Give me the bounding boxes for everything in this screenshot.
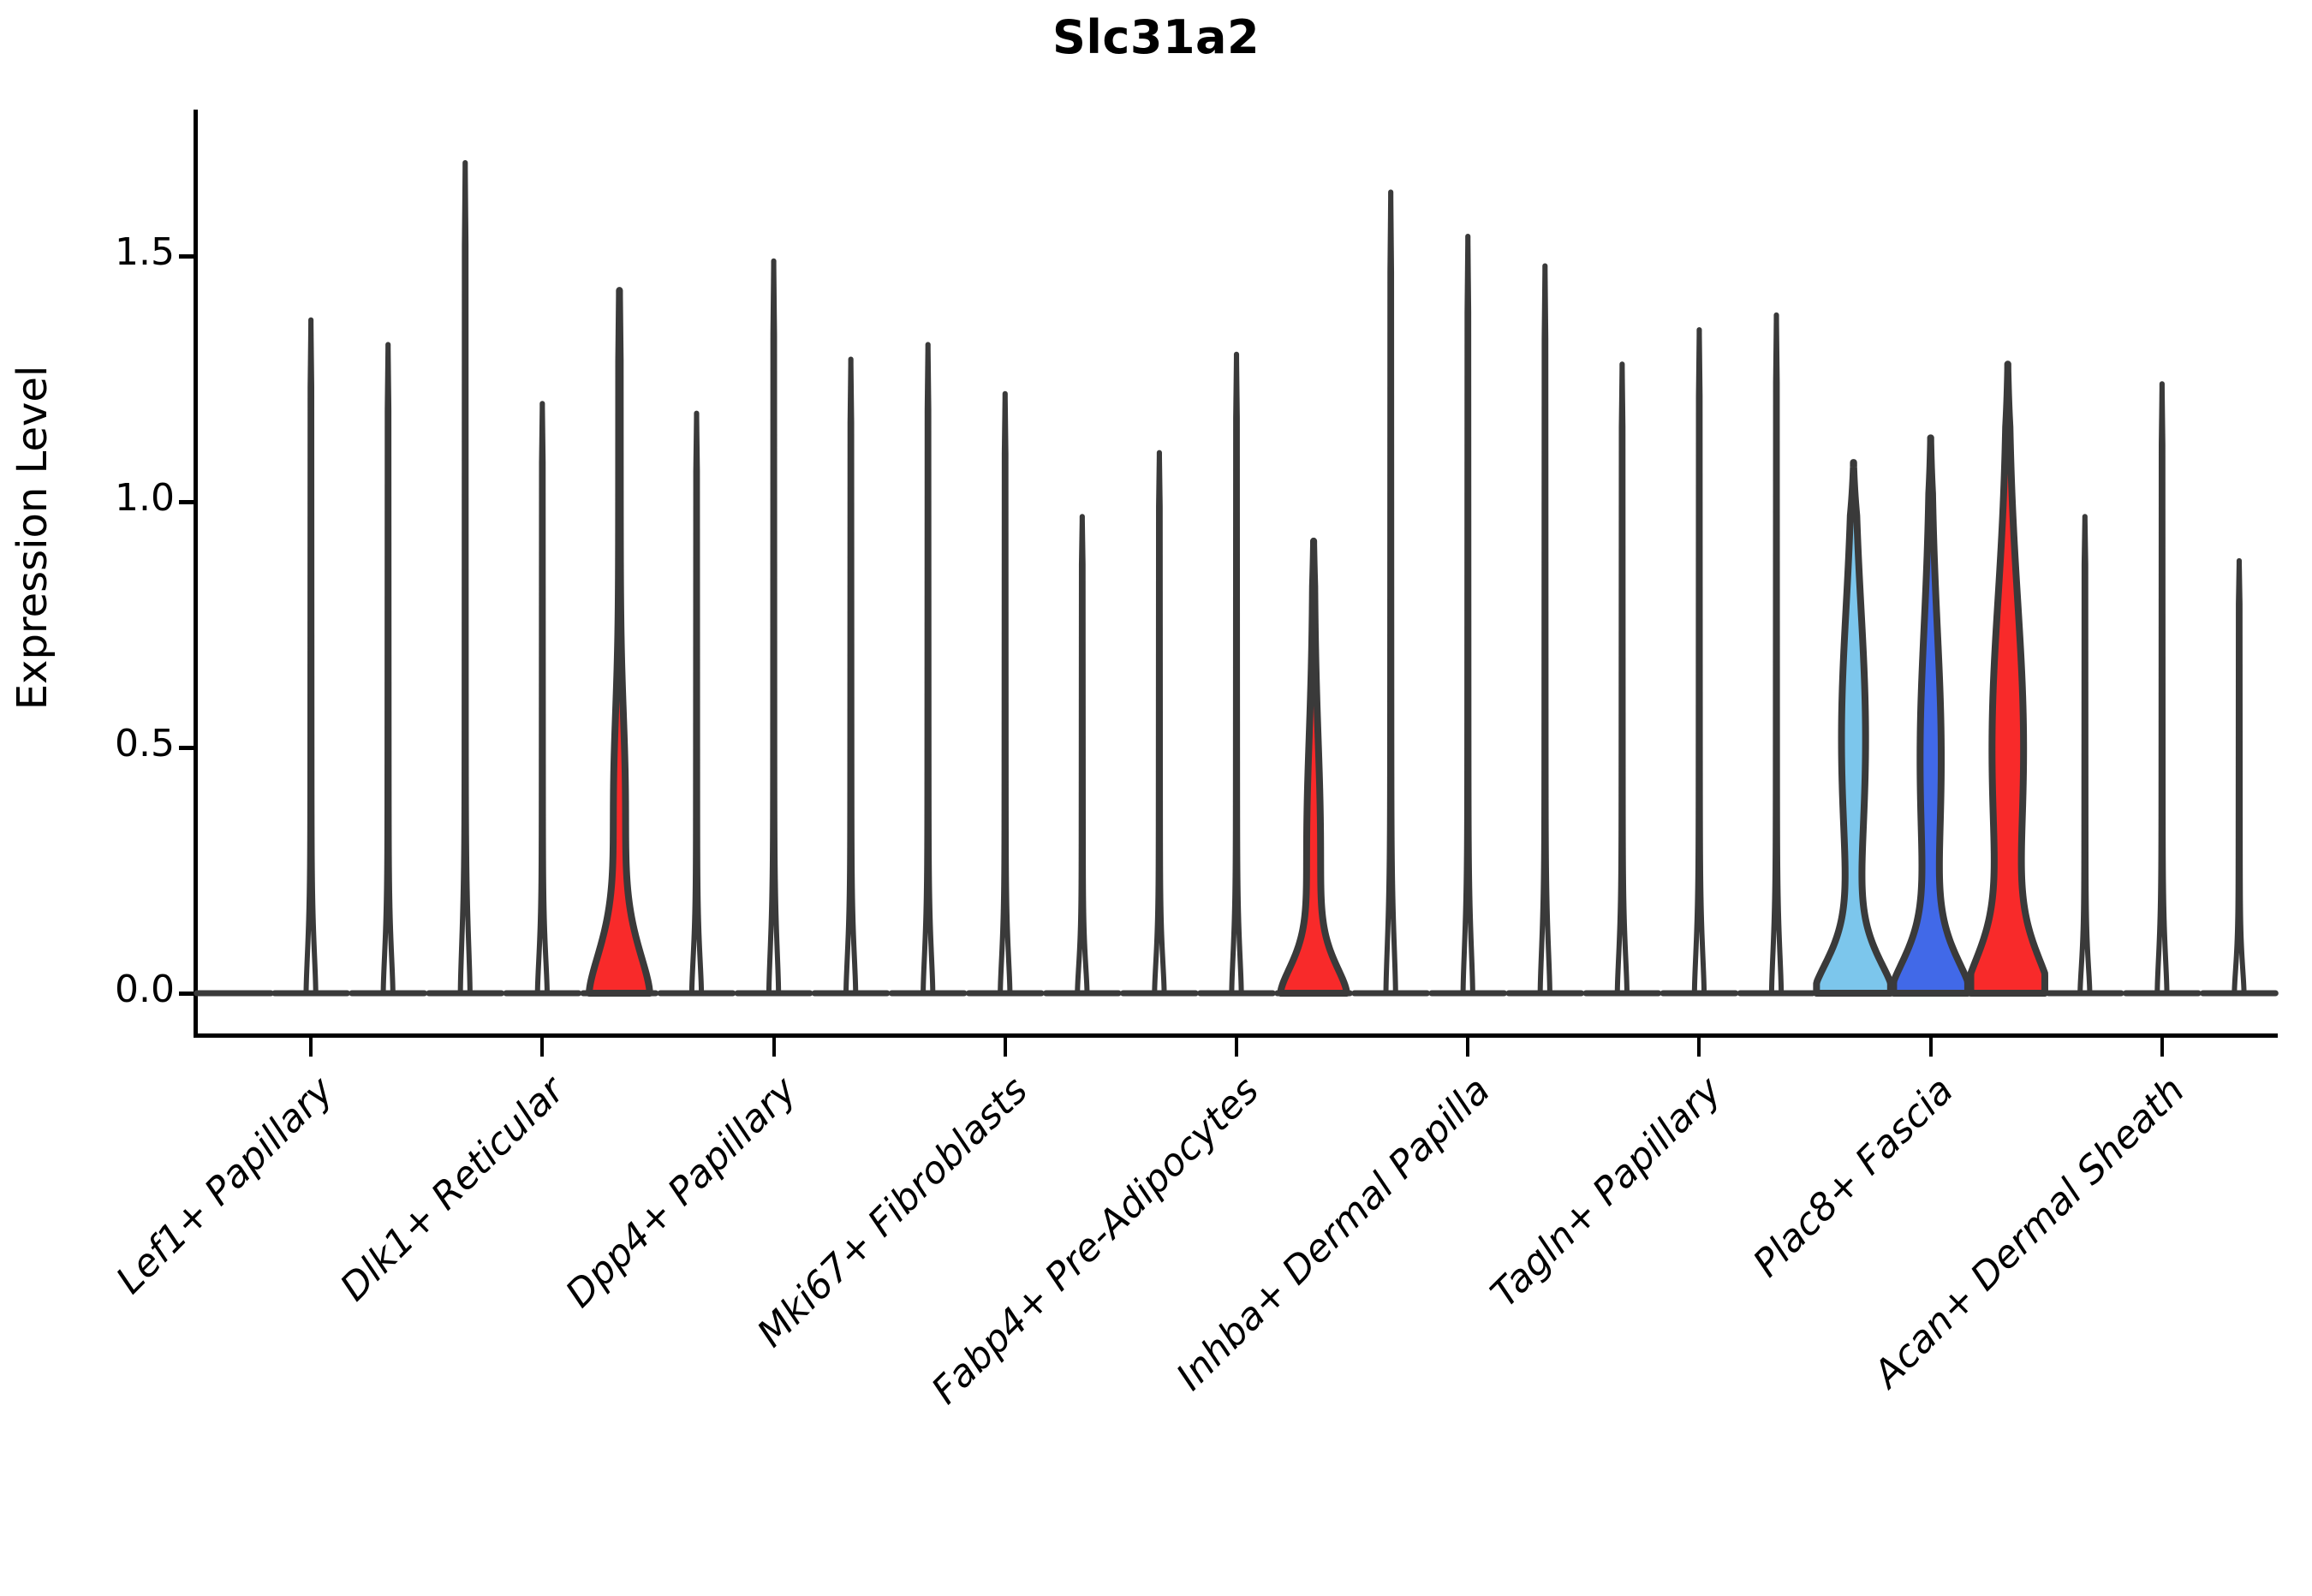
violin-4-1 xyxy=(891,344,964,993)
violin-body xyxy=(1386,192,1396,993)
violin-5-3 xyxy=(1278,541,1350,993)
violin-8-3 xyxy=(1971,364,2045,993)
violin-6-2 xyxy=(1432,236,1505,993)
violin-body xyxy=(1772,315,1781,993)
x-tick-mark xyxy=(2160,1038,2164,1057)
x-tick-label: Plac8+ Fascia xyxy=(1434,1069,1962,1596)
violin-body xyxy=(1695,330,1704,993)
violin-1-3 xyxy=(352,344,425,993)
violin-6-1 xyxy=(1355,192,1427,993)
violin-5-2 xyxy=(1201,354,1273,993)
violin-body xyxy=(1971,364,2045,993)
violin-9-1 xyxy=(2048,516,2121,993)
violin-body xyxy=(306,320,315,993)
x-tick-mark xyxy=(1004,1038,1007,1057)
violin-7-3 xyxy=(1740,315,1813,993)
violin-7-1 xyxy=(1586,364,1659,993)
y-tick-label: 0.0 xyxy=(3,968,175,1011)
violin-body xyxy=(1077,516,1087,993)
violin-8-1 xyxy=(1816,462,1890,993)
violin-3-3 xyxy=(814,360,887,993)
violin-5-1 xyxy=(1123,453,1196,993)
violin-body xyxy=(923,344,933,993)
violin-body xyxy=(1618,364,1627,993)
x-tick-mark xyxy=(1929,1038,1933,1057)
violin-body xyxy=(461,163,470,993)
violin-body xyxy=(769,261,778,993)
x-tick-label: Dpp4+ Papillary xyxy=(277,1069,805,1596)
violin-body xyxy=(589,290,650,993)
violin-9-3 xyxy=(2203,561,2276,993)
x-tick-mark xyxy=(540,1038,544,1057)
violin-body xyxy=(538,403,547,993)
violin-1-2 xyxy=(275,320,348,993)
y-tick-mark xyxy=(179,746,194,750)
x-tick-mark xyxy=(309,1038,313,1057)
violin-8-2 xyxy=(1893,438,1967,993)
x-tick-mark xyxy=(1235,1038,1238,1057)
violin-body xyxy=(2080,516,2089,993)
violin-6-3 xyxy=(1509,265,1582,993)
violin-body xyxy=(2234,561,2243,993)
violin-4-3 xyxy=(1046,516,1118,993)
x-tick-label: Fabp4+ Pre-Adipocytes xyxy=(740,1069,1267,1596)
x-tick-label: Tagln+ Papillary xyxy=(1203,1069,1731,1596)
y-tick-mark xyxy=(179,254,194,259)
page-title: Slc31a2 xyxy=(0,10,2312,64)
violin-3-2 xyxy=(737,261,810,993)
violin-body xyxy=(1154,453,1164,993)
x-tick-mark xyxy=(1697,1038,1701,1057)
violin-body xyxy=(2157,384,2166,993)
violin-4-2 xyxy=(968,394,1041,993)
x-tick-mark xyxy=(772,1038,776,1057)
y-tick-mark xyxy=(179,992,194,996)
violin-2-1 xyxy=(429,163,502,993)
violin-body xyxy=(1463,236,1473,993)
y-axis-spine xyxy=(194,110,198,1038)
violin-body xyxy=(1000,394,1010,993)
violin-9-2 xyxy=(2126,384,2199,993)
y-axis-label: Expression Level xyxy=(9,170,57,906)
y-tick-mark xyxy=(179,500,194,504)
violin-body xyxy=(1893,438,1967,993)
violin-3-1 xyxy=(660,414,733,993)
violin-body xyxy=(692,414,701,993)
violin-body xyxy=(1816,462,1890,993)
x-tick-label: Mki67+ Fibroblasts xyxy=(509,1069,1036,1596)
violin-2-2 xyxy=(506,403,579,993)
x-tick-label: Acan+ Dermal Sheath xyxy=(1665,1069,2193,1596)
violin-body xyxy=(1540,265,1550,993)
violin-plot-figure: Slc31a2 0.00.51.01.5 Expression Level Le… xyxy=(0,0,2312,1541)
x-tick-mark xyxy=(1466,1038,1469,1057)
violin-7-2 xyxy=(1663,330,1736,993)
violin-body xyxy=(846,360,855,993)
violin-body xyxy=(1280,541,1346,993)
violin-2-3 xyxy=(583,290,656,993)
x-tick-label: Dlk1+ Reticular xyxy=(46,1069,574,1596)
violin-body xyxy=(384,344,393,993)
x-tick-label: Inhba+ Dermal Papilla xyxy=(971,1069,1499,1596)
violin-body xyxy=(1231,354,1241,993)
